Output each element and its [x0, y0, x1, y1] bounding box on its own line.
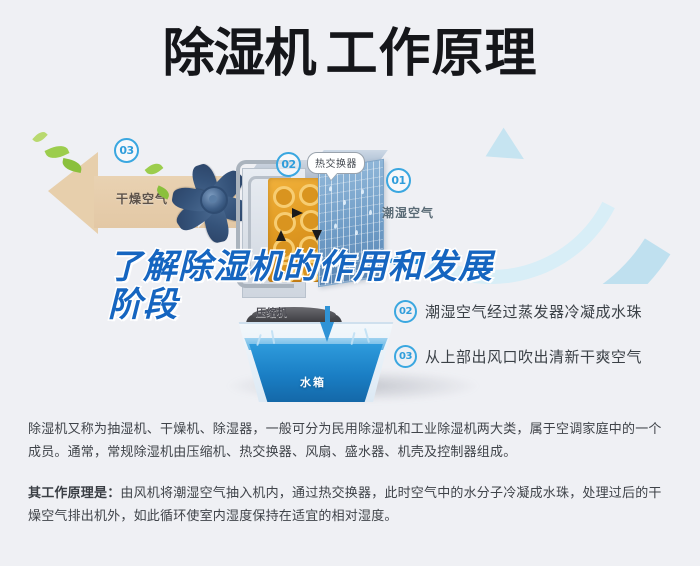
body-copy: 除湿机又称为抽湿机、干燥机、除湿器，一般可分为民用除湿机和工业除湿机两大类，属于… — [28, 418, 674, 546]
condensate-drop — [355, 230, 358, 235]
water-drip-arrow-icon — [320, 322, 334, 342]
step-item: 03 从上部出风口吹出清新干爽空气 — [394, 345, 694, 368]
air-inlet-arrow-tail — [400, 259, 422, 264]
paragraph-2: 其工作原理是：由风机将潮湿空气抽入机内，通过热交换器，此时空气中的水分子冷凝成水… — [28, 482, 674, 528]
humid-air-swoosh-icon — [392, 108, 692, 284]
condensate-drop — [365, 256, 368, 261]
flow-arrow-up-icon — [276, 230, 286, 241]
page-header: 除湿机工作原理 — [0, 24, 700, 84]
step-item: 02 潮湿空气经过蒸发器冷凝成水珠 — [394, 300, 694, 323]
dehumidifier-diagram: 干燥空气 — [0, 108, 700, 408]
step-badge: 03 — [394, 345, 417, 368]
condensate-drop — [341, 252, 344, 257]
step-list: 02 潮湿空气经过蒸发器冷凝成水珠 03 从上部出风口吹出清新干爽空气 — [394, 300, 694, 390]
page-title: 除湿机工作原理 — [0, 24, 700, 84]
compressor-label: 压缩机 — [256, 304, 288, 319]
poster-root: 除湿机工作原理 干燥空气 — [0, 0, 700, 566]
step-text: 从上部出风口吹出清新干爽空气 — [425, 346, 642, 367]
paragraph-2-rest: 由风机将潮湿空气抽入机内，通过热交换器，此时空气中的水分子冷凝成水珠，处理过后的… — [28, 486, 662, 524]
coil-ring — [274, 262, 296, 282]
step-badge: 02 — [394, 300, 417, 323]
heat-exchanger-callout: 热交换器 — [307, 152, 365, 174]
condensate-drop — [329, 186, 332, 191]
page-title-part1: 除湿机 — [162, 24, 315, 84]
humid-air-label: 潮湿空气 — [382, 204, 434, 221]
fan-hub — [200, 186, 228, 214]
paragraph-1: 除湿机又称为抽湿机、干燥机、除湿器，一般可分为民用除湿机和工业除湿机两大类，属于… — [28, 418, 674, 464]
condensate-drop — [334, 223, 337, 228]
flow-arrow-right-icon — [292, 208, 303, 218]
condensate-drop — [361, 189, 364, 194]
water-tank-label: 水箱 — [300, 374, 326, 390]
paragraph-2-lead: 其工作原理是： — [28, 486, 120, 501]
condensate-drop — [369, 210, 372, 215]
flow-arrow-down-icon — [312, 230, 322, 241]
coil-ring — [273, 186, 295, 208]
diagram-badge-03: 03 — [114, 138, 139, 163]
diagram-badge-02: 02 — [276, 152, 301, 177]
page-title-part2: 工作原理 — [326, 24, 538, 84]
coil-ring — [273, 238, 295, 260]
humid-air-arrow-icon — [486, 128, 533, 175]
leaf-icon — [32, 129, 47, 145]
condensate-drop — [343, 200, 346, 205]
step-text: 潮湿空气经过蒸发器冷凝成水珠 — [425, 301, 642, 322]
diagram-badge-01: 01 — [386, 168, 411, 193]
